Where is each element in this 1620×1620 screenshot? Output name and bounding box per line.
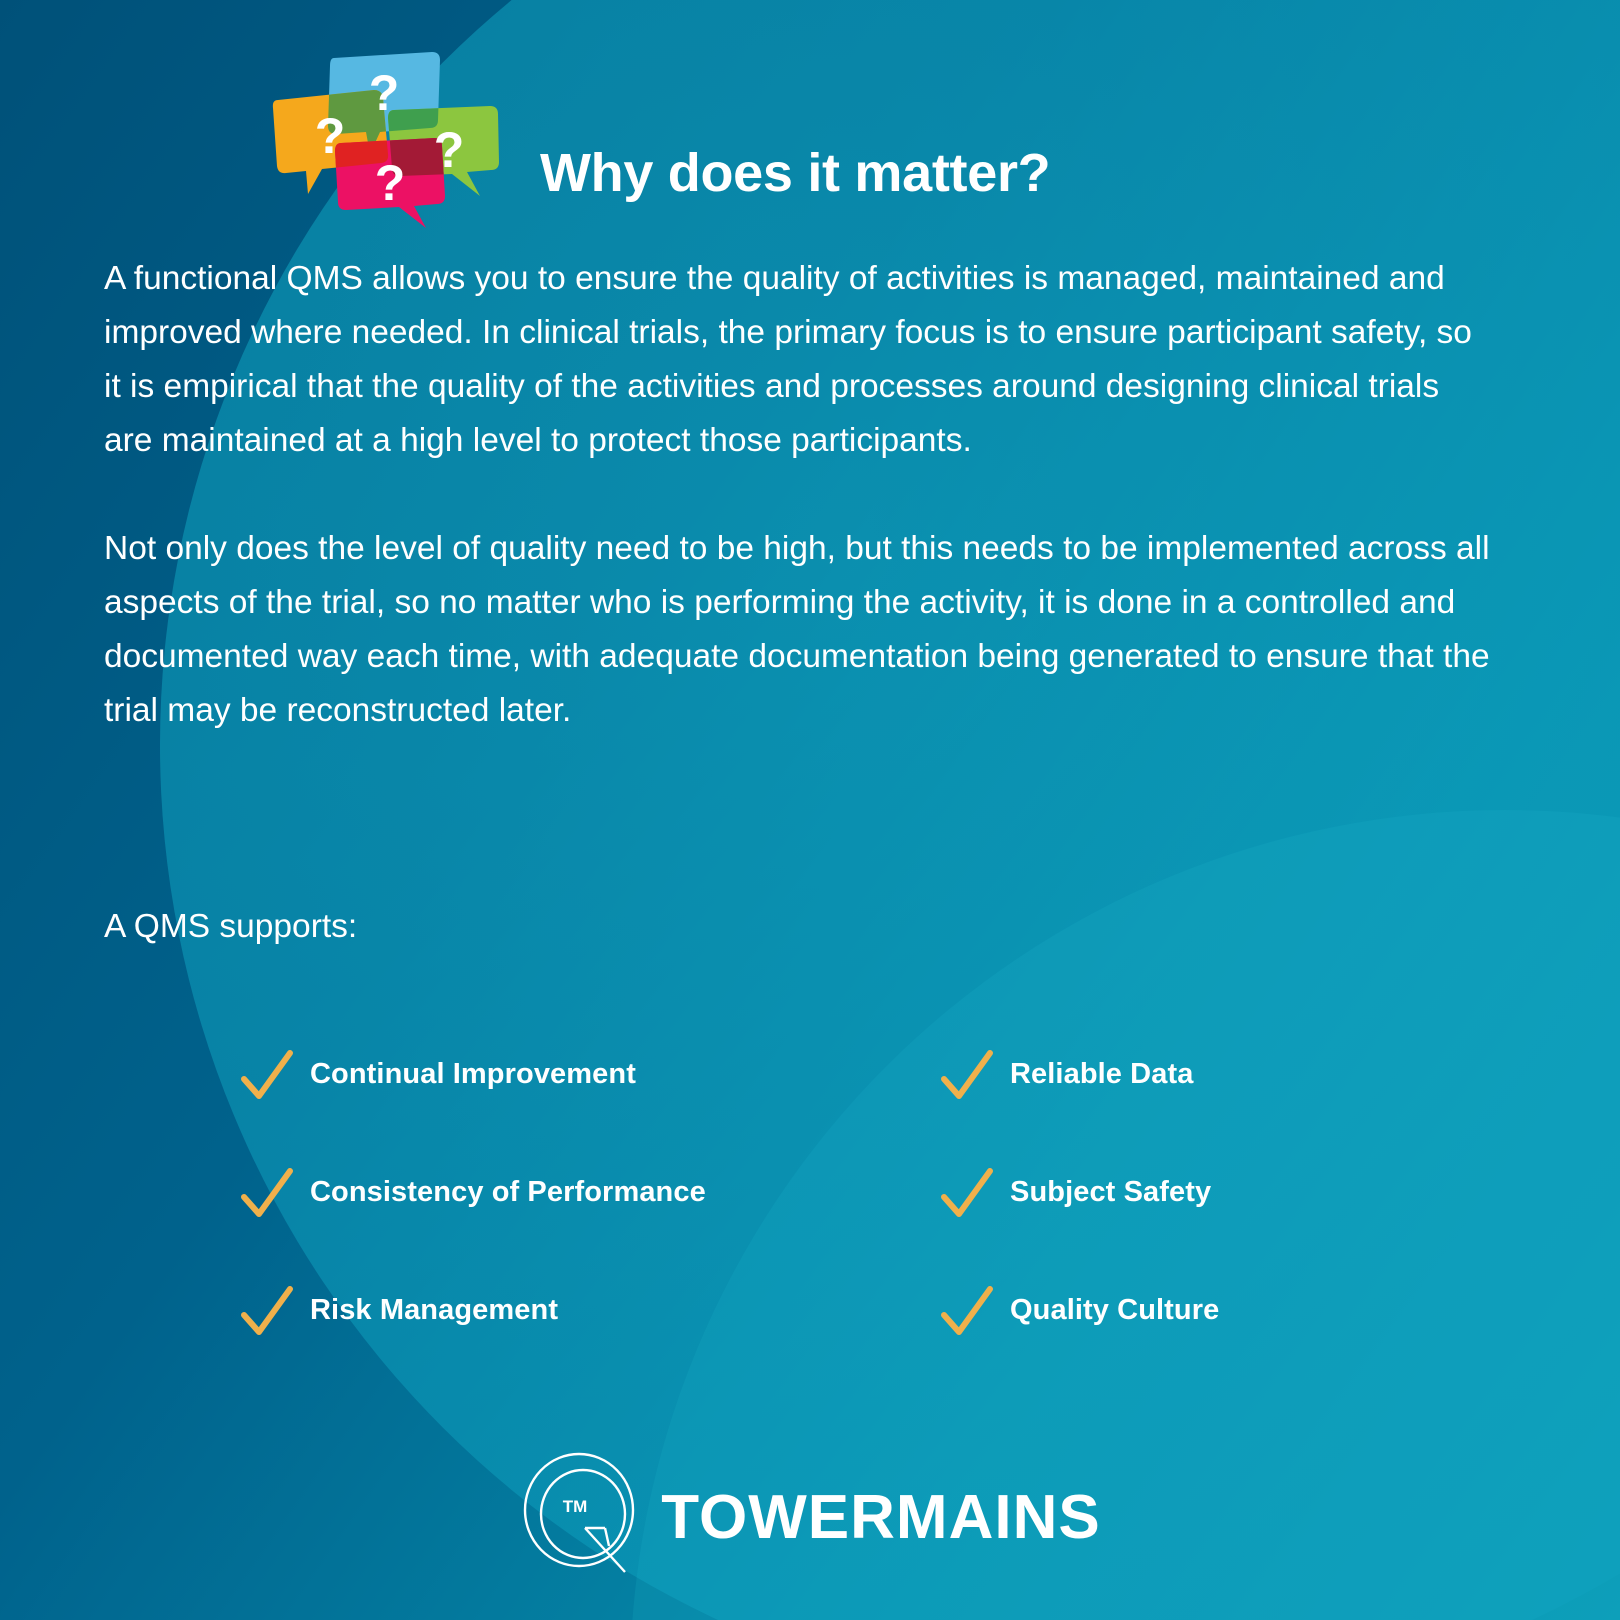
towermains-q-logo-icon: TM — [519, 1450, 647, 1578]
check-icon — [240, 1167, 294, 1221]
pink-question-mark: ? — [375, 155, 406, 211]
check-icon — [240, 1285, 294, 1339]
paragraph-1: A functional QMS allows you to ensure th… — [104, 252, 1494, 468]
content-root: ? ? ? ? Why does it matter? A functional… — [0, 0, 1620, 1620]
checklist-item-label: Reliable Data — [1010, 1058, 1193, 1091]
speech-bubbles-question-icon: ? ? ? ? — [262, 48, 502, 228]
checklist: Continual Improvement Consistency of Per… — [0, 1015, 1620, 1345]
checklist-right-column: Reliable Data Subject Safety Quality Cul… — [940, 1015, 1219, 1369]
supports-label: A QMS supports: — [104, 900, 357, 954]
check-icon — [240, 1049, 294, 1103]
list-item: Continual Improvement — [240, 1015, 706, 1133]
list-item: Quality Culture — [940, 1251, 1219, 1369]
footer: TM TOWERMAINS — [0, 1450, 1620, 1578]
checklist-left-column: Continual Improvement Consistency of Per… — [240, 1015, 706, 1369]
check-icon — [940, 1049, 994, 1103]
list-item: Reliable Data — [940, 1015, 1219, 1133]
checklist-item-label: Quality Culture — [1010, 1294, 1219, 1327]
blue-question-mark: ? — [369, 65, 400, 121]
list-item: Consistency of Performance — [240, 1133, 706, 1251]
list-item: Subject Safety — [940, 1133, 1219, 1251]
header: ? ? ? ? Why does it matter? — [0, 44, 1620, 224]
check-icon — [940, 1167, 994, 1221]
page-title: Why does it matter? — [540, 142, 1050, 204]
infographic-canvas: ? ? ? ? Why does it matter? A functional… — [0, 0, 1620, 1620]
trademark-label: TM — [563, 1497, 588, 1516]
checklist-item-label: Continual Improvement — [310, 1058, 636, 1091]
green-question-mark: ? — [434, 122, 465, 178]
checklist-item-label: Consistency of Performance — [310, 1176, 706, 1209]
brand-name: TOWERMAINS — [661, 1487, 1100, 1549]
orange-question-mark: ? — [315, 108, 346, 164]
list-item: Risk Management — [240, 1251, 706, 1369]
checklist-item-label: Subject Safety — [1010, 1176, 1211, 1209]
checklist-item-label: Risk Management — [310, 1294, 558, 1327]
body-copy: A functional QMS allows you to ensure th… — [104, 252, 1494, 792]
paragraph-2: Not only does the level of quality need … — [104, 522, 1494, 738]
check-icon — [940, 1285, 994, 1339]
